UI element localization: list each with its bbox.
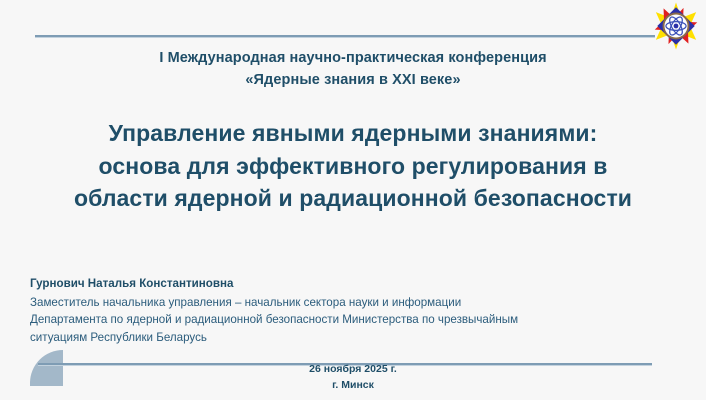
author-role-line-2: Департамента по ядерной и радиационной б…: [30, 311, 630, 329]
author-name: Гурнович Наталья Константиновна: [30, 275, 630, 293]
author-role-line-1: Заместитель начальника управления – нача…: [30, 294, 630, 312]
page-title: Управление явными ядерными знаниями: осн…: [18, 117, 688, 215]
footer-meta: 26 ноября 2025 г. г. Минск: [0, 362, 706, 393]
presentation-slide: I Международная научно-практическая конф…: [0, 0, 706, 400]
title-line-2: основа для эффективного регулирования в: [18, 150, 688, 183]
title-line-3: области ядерной и радиационной безопасно…: [18, 182, 688, 215]
footer-city: г. Минск: [0, 378, 706, 394]
nuclear-atom-star-emblem-icon: [652, 2, 700, 50]
author-block: Гурнович Наталья Константиновна Заместит…: [30, 275, 630, 346]
top-divider-rule: [35, 35, 655, 37]
conference-header: I Международная научно-практическая конф…: [0, 47, 706, 92]
title-line-1: Управление явными ядерными знаниями:: [18, 117, 688, 150]
author-role-line-3: ситуациям Республики Беларусь: [30, 329, 630, 347]
footer-date: 26 ноября 2025 г.: [0, 362, 706, 378]
conference-title-line: I Международная научно-практическая конф…: [159, 50, 546, 66]
conference-subtitle-line: «Ядерные знания в XXI веке»: [0, 69, 706, 91]
